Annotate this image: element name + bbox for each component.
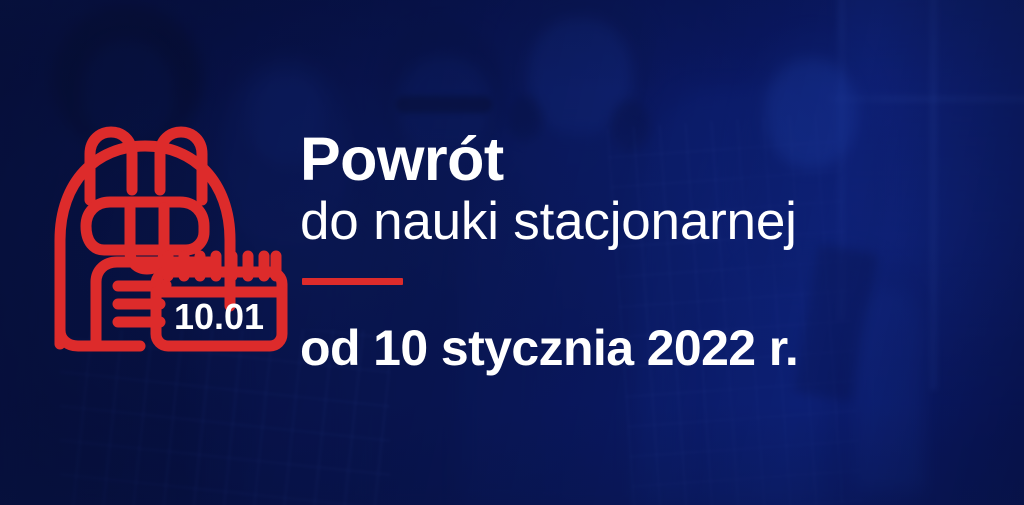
date-line: od 10 stycznia 2022 r. [300,322,940,375]
headline-primary: Powrót [300,128,940,190]
announcement-banner: 10.01 Powrót do nauki stacjonarnej od 10… [0,0,1024,505]
red-rule-divider [302,278,403,285]
headline-secondary: do nauki stacjonarnej [300,192,940,252]
calendar-date-text: 10.01 [174,296,264,337]
backpack-calendar-icon: 10.01 [44,116,294,356]
banner-content: 10.01 Powrót do nauki stacjonarnej od 10… [0,0,1024,505]
headline-block: Powrót do nauki stacjonarnej od 10 stycz… [300,128,940,374]
